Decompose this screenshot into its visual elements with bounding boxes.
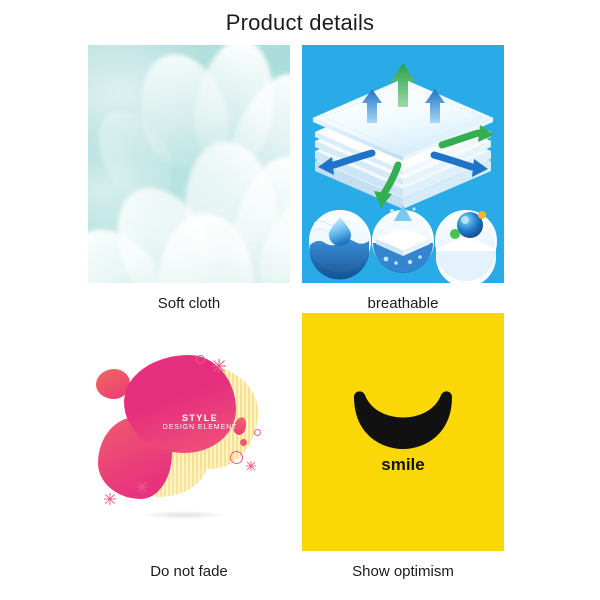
decor-sparkle <box>136 481 148 493</box>
feature-icon-antibacterial <box>436 211 496 283</box>
caption-do-not-fade: Do not fade <box>88 563 290 580</box>
decor-sparkle <box>212 359 226 373</box>
smile-curve-icon <box>354 391 452 449</box>
product-details-page: Product details Soft cloth <box>0 0 600 600</box>
decor-sparkle <box>246 461 256 471</box>
smile-word: smile <box>302 455 504 475</box>
page-title: Product details <box>0 10 600 36</box>
smile-graphic <box>302 313 504 551</box>
show-optimism-image: smile <box>302 313 504 551</box>
product-detail-cell-show-optimism: smile Show optimism <box>302 313 504 580</box>
decor-ring <box>196 355 205 364</box>
feature-icon-waterproof <box>310 211 370 280</box>
breathable-diagram <box>302 45 504 283</box>
feature-icon-vapor-layers <box>373 205 433 273</box>
blob-drop-shadow <box>124 509 244 521</box>
caption-show-optimism: Show optimism <box>302 563 504 580</box>
decor-ring <box>230 451 243 464</box>
breathable-image <box>302 45 504 283</box>
product-detail-cell-do-not-fade: STYLE DESIGN ELEMENT Do not fade <box>88 313 290 580</box>
product-detail-cell-breathable: breathable <box>302 45 504 312</box>
product-detail-cell-soft-cloth: Soft cloth <box>88 45 290 312</box>
decor-sparkle <box>104 493 116 505</box>
blob-dot-shape <box>240 439 247 446</box>
caption-breathable: breathable <box>302 295 504 312</box>
caption-soft-cloth: Soft cloth <box>88 295 290 312</box>
soft-cloth-image <box>88 45 290 283</box>
do-not-fade-image: STYLE DESIGN ELEMENT <box>88 313 290 551</box>
decor-ring <box>254 429 261 436</box>
